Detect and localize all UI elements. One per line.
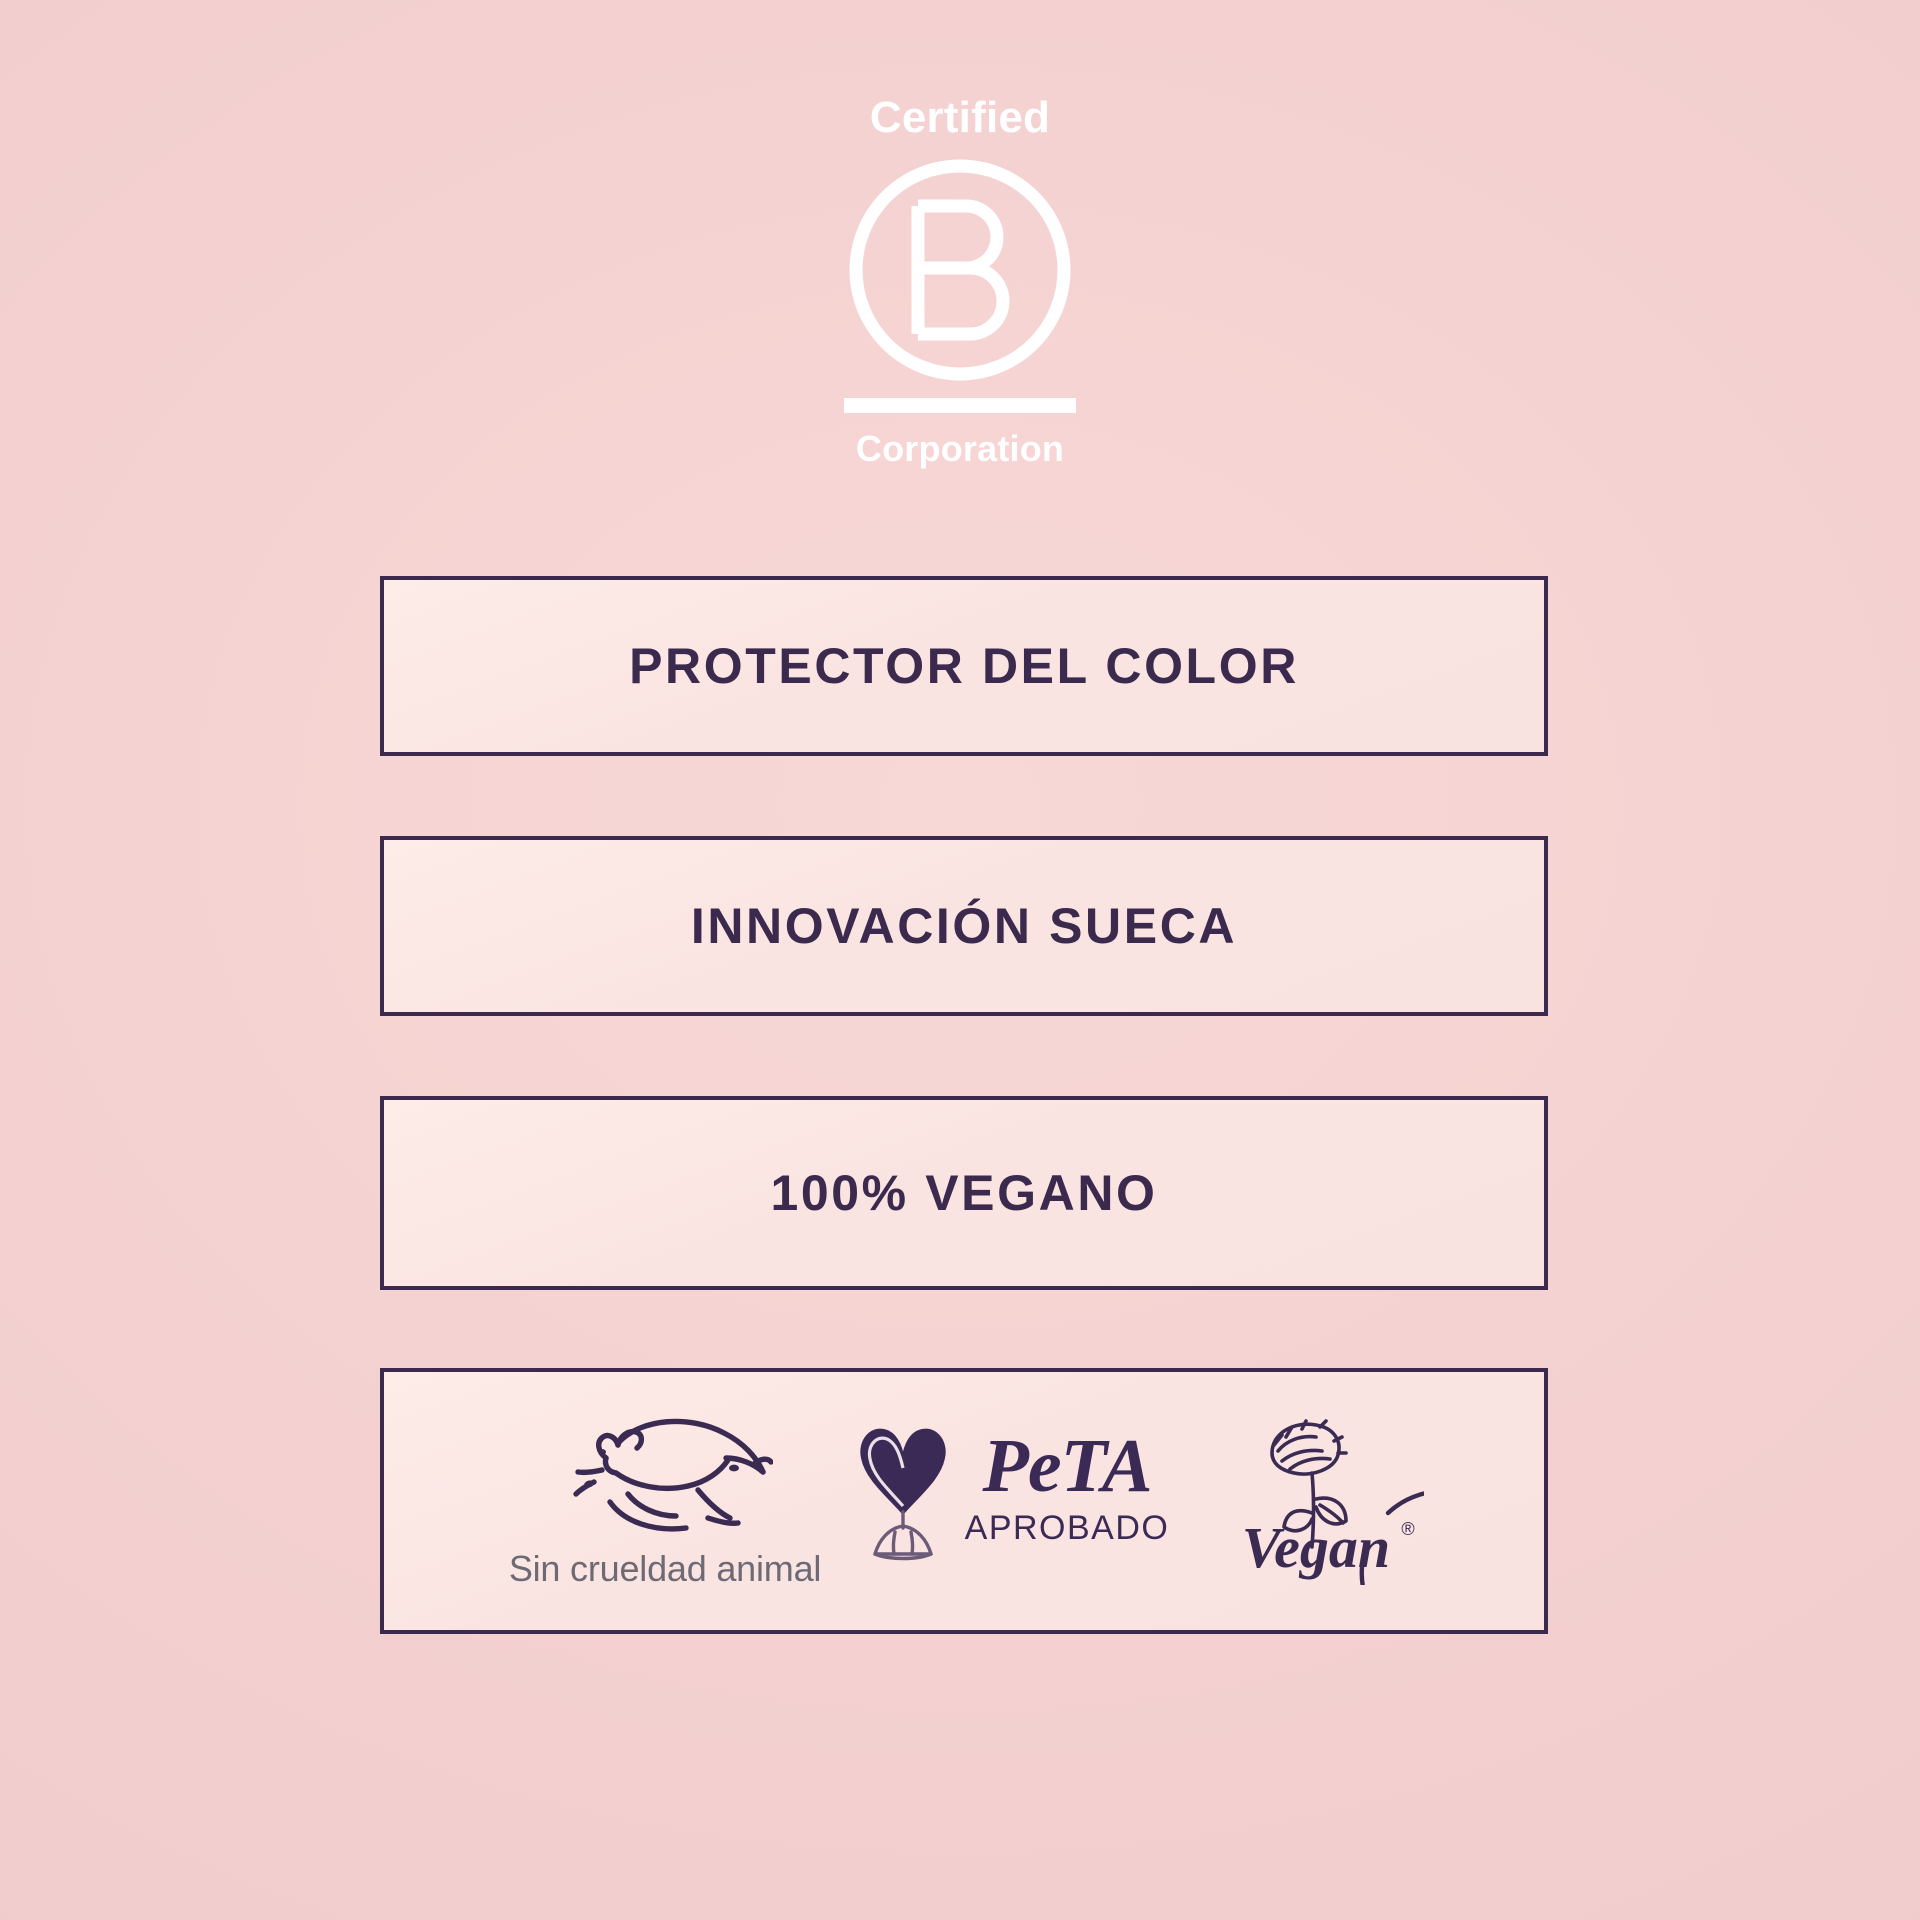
peta-approved-label: APROBADO (965, 1509, 1170, 1548)
leaping-bunny-certification: Sin crueldad animal (515, 1412, 815, 1590)
b-corp-circle-b-icon (844, 154, 1076, 386)
promo-graphic-canvas: Certified Corporation PROTECTOR DEL COLO… (0, 0, 1920, 1920)
peta-bunny-heart-icon (849, 1416, 957, 1564)
claim-label: INNOVACIÓN SUECA (691, 897, 1237, 955)
claim-label: 100% VEGANO (770, 1164, 1157, 1222)
claim-label: PROTECTOR DEL COLOR (629, 637, 1299, 695)
b-corp-corporation-label: Corporation (856, 431, 1064, 467)
vegan-society-flower-icon: Vegan ® (1212, 1395, 1424, 1585)
vegan-society-certification: Vegan ® (1203, 1395, 1433, 1585)
b-corp-certification-logo: Certified Corporation (810, 96, 1110, 467)
svg-text:®: ® (1401, 1519, 1414, 1539)
leaping-bunny-icon (558, 1412, 773, 1538)
claim-box-100-vegano: 100% VEGANO (380, 1096, 1548, 1290)
peta-wordmark: PeTA (982, 1432, 1151, 1502)
peta-approved-certification: PeTA APROBADO (849, 1416, 1169, 1564)
peta-wordmark-group: PeTA APROBADO (965, 1432, 1170, 1549)
certification-logos-box: Sin crueldad animal (380, 1368, 1548, 1634)
claim-box-innovacion-sueca: INNOVACIÓN SUECA (380, 836, 1548, 1016)
leaping-bunny-caption: Sin crueldad animal (509, 1548, 821, 1590)
claim-box-protector-del-color: PROTECTOR DEL COLOR (380, 576, 1548, 756)
certification-logo-row: Sin crueldad animal (384, 1372, 1544, 1630)
b-corp-certified-label: Certified (870, 96, 1050, 140)
svg-text:Vegan: Vegan (1242, 1515, 1390, 1580)
b-corp-divider-bar (844, 398, 1076, 413)
